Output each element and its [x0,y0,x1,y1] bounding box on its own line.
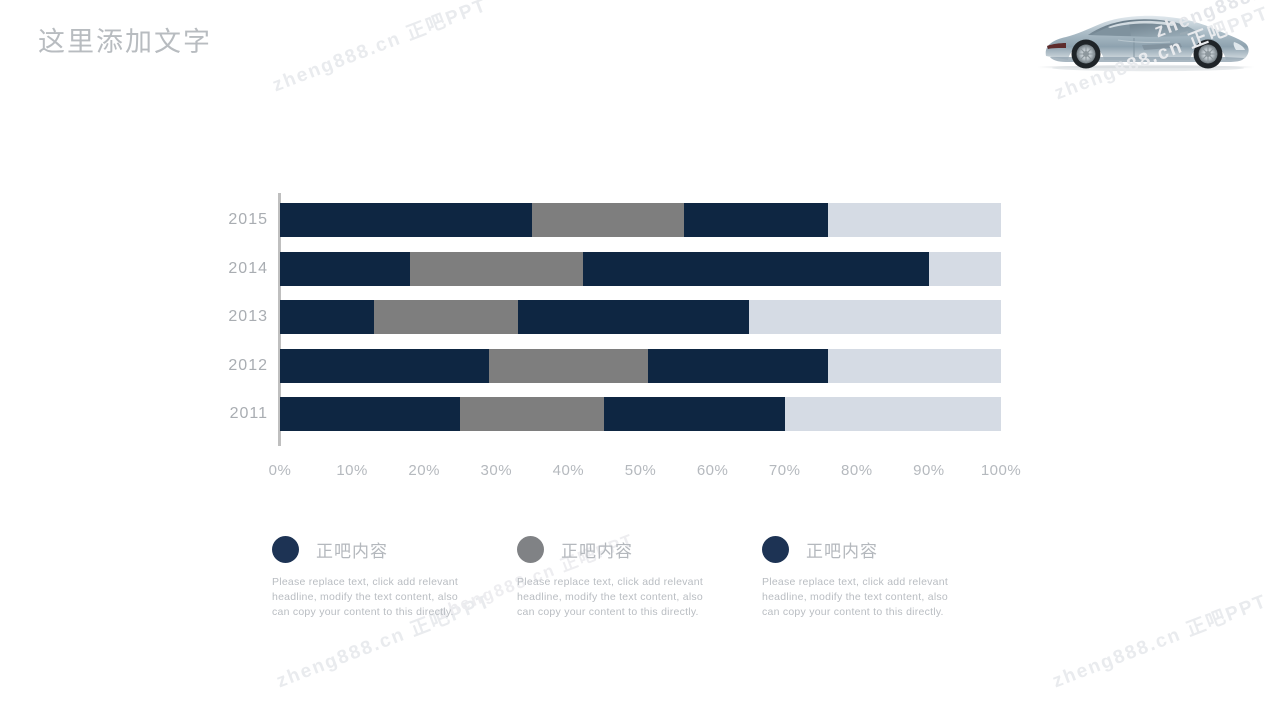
legend-item[interactable]: 正吧内容Please replace text, click add relev… [272,532,502,620]
bar-segment[interactable] [374,300,518,334]
legend-color-dot-icon [762,536,789,563]
bar-row[interactable] [280,203,1001,237]
bar-segment[interactable] [604,397,784,431]
bar-segment[interactable] [828,203,1001,237]
bar-segment[interactable] [749,300,1001,334]
bar-row[interactable] [280,252,1001,286]
bar-segment[interactable] [828,349,1001,383]
bar-row[interactable] [280,397,1001,431]
legend-item-description: Please replace text, click add relevant … [762,575,962,620]
x-axis-tick-label: 90% [913,462,945,479]
bar-segment[interactable] [532,203,683,237]
bar-segment[interactable] [684,203,828,237]
x-axis-tick-label: 30% [481,462,513,479]
legend-item-title: 正吧内容 [561,537,633,562]
x-axis-tick-label: 60% [697,462,729,479]
bar-segment[interactable] [280,252,410,286]
x-axis-tick-label: 10% [336,462,368,479]
legend-item[interactable]: 正吧内容Please replace text, click add relev… [517,532,747,620]
bar-segment[interactable] [460,397,604,431]
bar-segment[interactable] [648,349,828,383]
y-axis-tick-label: 2013 [208,308,268,326]
y-axis-tick-label: 2014 [208,260,268,278]
chart-plot-area [278,196,1001,446]
y-axis-tick-labels: 20152014201320122011 [200,196,268,446]
x-axis-tick-label: 100% [981,462,1021,479]
bar-segment[interactable] [583,252,929,286]
bar-segment[interactable] [489,349,648,383]
bar-segment[interactable] [280,300,374,334]
y-axis-tick-label: 2011 [208,405,268,423]
legend-item-description: Please replace text, click add relevant … [272,575,472,620]
legend-item-title: 正吧内容 [806,537,878,562]
bar-row[interactable] [280,349,1001,383]
y-axis-tick-label: 2012 [208,357,268,375]
x-axis-tick-label: 40% [553,462,585,479]
legend-color-dot-icon [272,536,299,563]
x-axis-tick-labels: 0%10%20%30%40%50%60%70%80%90%100% [278,462,1001,486]
bar-row[interactable] [280,300,1001,334]
bar-segment[interactable] [280,203,532,237]
bar-segment[interactable] [518,300,749,334]
bar-segment[interactable] [929,252,1001,286]
bar-segment[interactable] [280,397,460,431]
y-axis-tick-label: 2015 [208,211,268,229]
legend-item-description: Please replace text, click add relevant … [517,575,717,620]
legend-color-dot-icon [517,536,544,563]
x-axis-tick-label: 0% [269,462,292,479]
chart-legend: 正吧内容Please replace text, click add relev… [272,532,1002,627]
x-axis-tick-label: 20% [408,462,440,479]
bar-segment[interactable] [410,252,583,286]
legend-item[interactable]: 正吧内容Please replace text, click add relev… [762,532,992,620]
bar-segment[interactable] [280,349,489,383]
legend-item-title: 正吧内容 [316,537,388,562]
x-axis-tick-label: 70% [769,462,801,479]
x-axis-tick-label: 50% [625,462,657,479]
bar-segment[interactable] [785,397,1001,431]
x-axis-tick-label: 80% [841,462,873,479]
